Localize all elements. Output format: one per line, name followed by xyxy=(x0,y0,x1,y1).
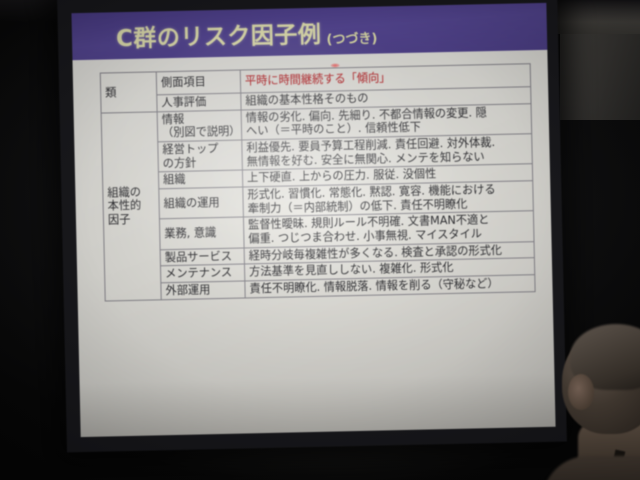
aspect-cell: 業務, 意識 xyxy=(159,217,244,249)
presentation-slide: C群のリスク因子例 (つづき) 類 側面項目 平時に時間継続する「傾向」 xyxy=(71,3,555,437)
kind-cell: 組織の 本性的 因子 xyxy=(101,112,161,301)
kind-line-1: 組織の xyxy=(107,185,141,199)
column-header-kind: 類 xyxy=(100,72,157,113)
aspect-cell: 人事評価 xyxy=(157,93,241,111)
risk-factor-table-area: 類 側面項目 平時に時間継続する「傾向」 人事評価 組織の基本性格そのもの 組 xyxy=(100,63,535,301)
aspect-line-1: 経営トップ xyxy=(162,142,218,156)
projector-photo-scene: C群のリスク因子例 (つづき) 類 側面項目 平時に時間継続する「傾向」 xyxy=(0,0,640,480)
slide-title: C群のリスク因子例 xyxy=(116,14,322,52)
person-shoulder xyxy=(542,456,640,480)
aspect-line-2: の方針 xyxy=(163,156,197,170)
detail-line-2: へい（＝平時のこと）. 信頼性低下 xyxy=(246,121,421,138)
audience-person-silhouette xyxy=(548,330,640,480)
aspect-cell: 組織の運用 xyxy=(159,187,244,219)
column-header-aspect: 側面項目 xyxy=(156,70,240,95)
person-ear xyxy=(568,374,594,410)
kind-line-2: 本性的 xyxy=(108,199,142,213)
slide-title-suffix: (つづき) xyxy=(326,28,377,48)
aspect-cell: 製品サービス xyxy=(160,248,244,266)
aspect-cell: 組織 xyxy=(158,170,242,188)
slide-title-band: C群のリスク因子例 (つづき) xyxy=(71,3,547,60)
aspect-line-2: （別図で説明） xyxy=(162,125,241,140)
risk-factor-table: 類 側面項目 平時に時間継続する「傾向」 人事評価 組織の基本性格そのもの 組 xyxy=(100,63,536,301)
projection-screen: C群のリスク因子例 (つづき) 類 側面項目 平時に時間継続する「傾向」 xyxy=(57,0,567,452)
kind-line-3: 因子 xyxy=(108,213,131,226)
aspect-cell: メンテナンス xyxy=(160,264,244,282)
aspect-cell: 情報 （別図で説明） xyxy=(157,110,242,142)
aspect-cell: 外部運用 xyxy=(161,281,245,299)
aspect-cell: 経営トップ の方針 xyxy=(158,140,243,172)
slide-bottom-shading xyxy=(80,373,556,437)
aspect-line-1: 情報 xyxy=(162,112,185,125)
